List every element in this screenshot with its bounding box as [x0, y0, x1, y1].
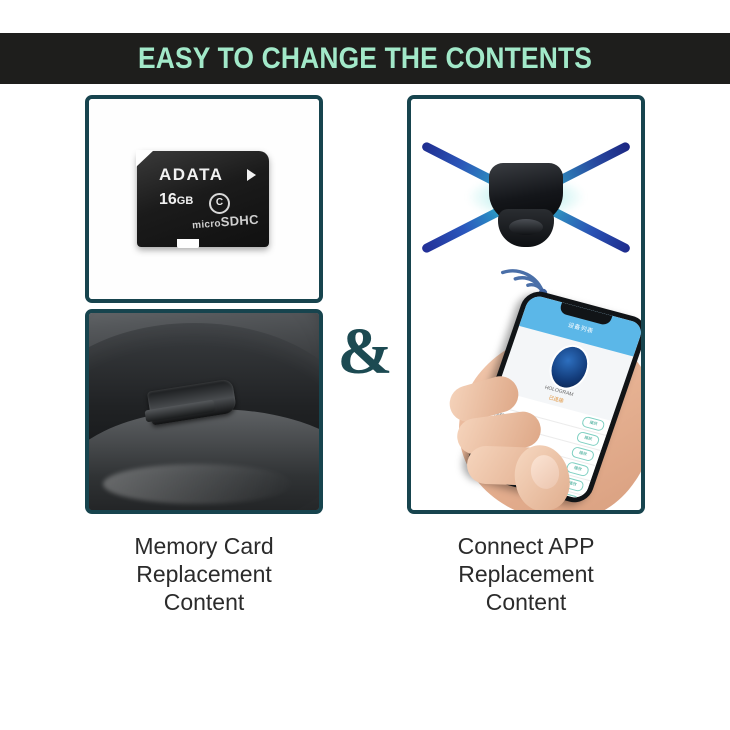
card-capacity-value: 16 — [159, 191, 177, 208]
panel-memory-card-photo: ADATA 16GB C microSDHC — [85, 95, 323, 303]
card-speed-class-icon: C — [209, 193, 230, 214]
card-direction-arrow-icon — [247, 169, 256, 181]
card-capacity-label: 16GB — [159, 191, 193, 209]
fan-hub-ring — [509, 219, 543, 235]
ampersand-connector: & — [323, 319, 407, 385]
hand-holding-phone: 设备列表 HOLOGRAM 已连接 视频 01 播放 视频 02 播放 — [441, 295, 641, 510]
header-banner: EASY TO CHANGE THE CONTENTS — [0, 33, 730, 84]
memory-card-stage: ADATA 16GB C microSDHC — [89, 99, 319, 299]
caption-line-1: Memory Card — [54, 532, 354, 560]
card-type-suffix: SDHC — [220, 212, 259, 230]
page-title: EASY TO CHANGE THE CONTENTS — [138, 42, 592, 76]
caption-connect-app: Connect APP Replacement Content — [376, 532, 676, 616]
hub-highlight — [103, 464, 293, 504]
card-brand-label: ADATA — [159, 165, 223, 185]
panel-app-photo: 设备列表 HOLOGRAM 已连接 视频 01 播放 视频 02 播放 — [407, 95, 645, 514]
hub-photo-stage — [89, 313, 319, 510]
content-area: ADATA 16GB C microSDHC & — [0, 84, 730, 644]
card-type-prefix: micro — [192, 218, 221, 231]
card-type-label: microSDHC — [192, 212, 260, 232]
microsd-card-icon: ADATA 16GB C microSDHC — [137, 151, 269, 247]
card-capacity-unit: GB — [177, 195, 194, 207]
caption-line-1: Connect APP — [376, 532, 676, 560]
caption-line-2: Replacement — [376, 560, 676, 588]
app-photo-stage: 设备列表 HOLOGRAM 已连接 视频 01 播放 视频 02 播放 — [411, 99, 641, 510]
caption-line-3: Content — [54, 588, 354, 616]
caption-memory-card: Memory Card Replacement Content — [54, 532, 354, 616]
card-contact-notch — [177, 239, 199, 248]
caption-line-2: Replacement — [54, 560, 354, 588]
caption-line-3: Content — [376, 588, 676, 616]
panel-hub-slot-photo — [85, 309, 323, 514]
